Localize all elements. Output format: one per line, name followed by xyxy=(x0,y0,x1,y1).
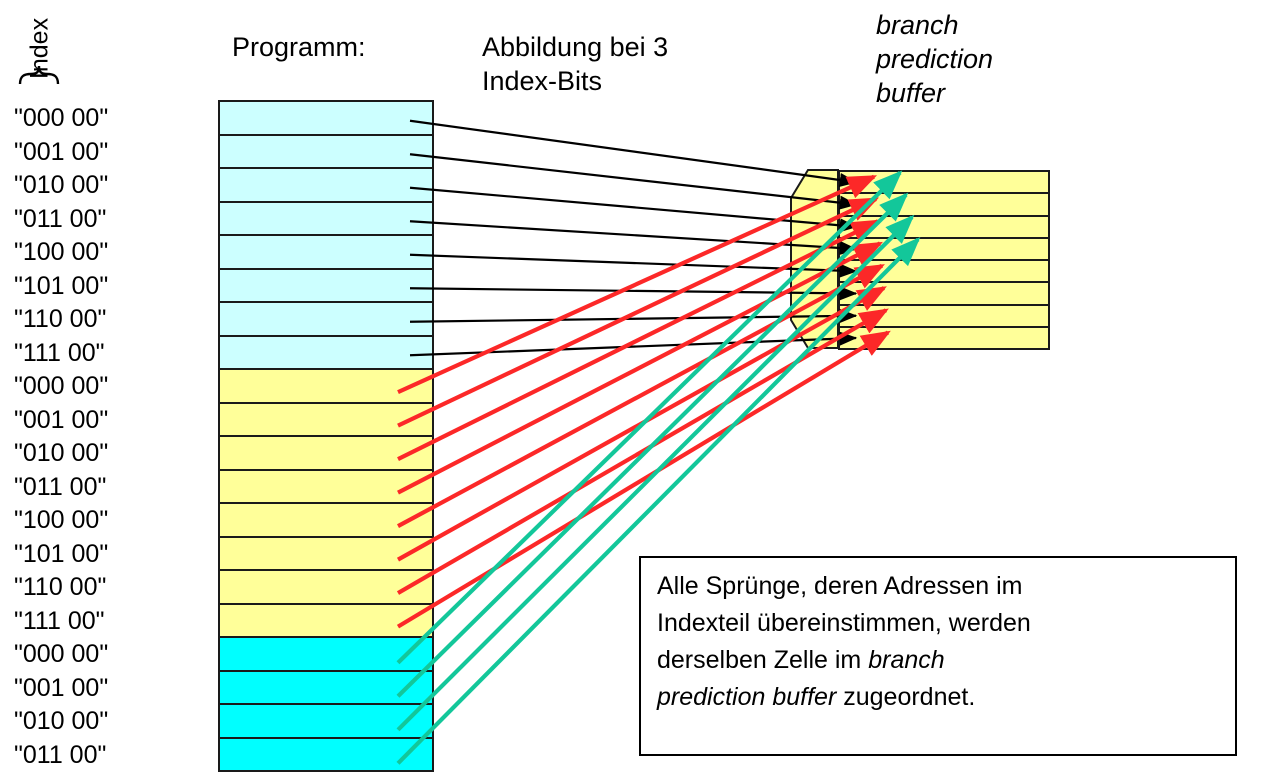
note-line-1: Alle Sprünge, deren Adressen im xyxy=(657,568,1221,605)
mapping-arrow xyxy=(410,154,856,204)
note-line-3: derselben Zelle im branch xyxy=(657,642,1221,679)
note-line-2: Indexteil übereinstimmen, werden xyxy=(657,605,1221,642)
explanation-note: Alle Sprünge, deren Adressen im Indextei… xyxy=(639,556,1237,756)
note-line-4-plain: zugeordnet. xyxy=(836,683,975,711)
mapping-arrow xyxy=(410,121,856,182)
diagram-canvas: Index Programm: Abbildung bei 3 Index-Bi… xyxy=(0,0,1261,784)
note-line-4-italic: prediction buffer xyxy=(657,683,836,711)
mapping-arrow xyxy=(410,188,856,227)
note-line-4: prediction buffer zugeordnet. xyxy=(657,679,1221,716)
note-line-3-italic: branch xyxy=(868,646,944,674)
note-line-3-plain: derselben Zelle im xyxy=(657,646,868,674)
index-brace xyxy=(20,66,58,84)
mapping-arrow xyxy=(410,221,856,249)
